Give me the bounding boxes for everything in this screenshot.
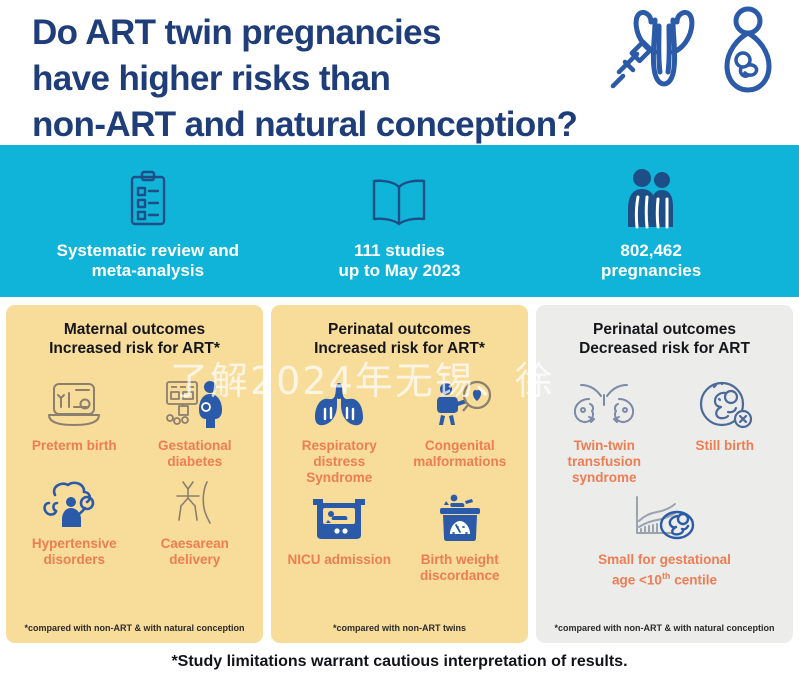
page-title: Do ART twin pregnancies have higher risk… bbox=[32, 6, 632, 148]
outcome-line: Preterm birth bbox=[32, 438, 117, 454]
glucose-monitor-pregnant-woman-icon bbox=[163, 376, 227, 432]
card-title-perinatal-decreased: Perinatal outcomes Decreased risk for AR… bbox=[544, 321, 785, 358]
page-title-line-1: Do ART twin pregnancies bbox=[32, 10, 632, 56]
outcome-line: Hypertensive bbox=[32, 536, 117, 552]
outcome-label-small-for-gestational-age: Small for gestational age <10th centile bbox=[596, 552, 733, 589]
outcome-label-respiratory-distress: Respiratory distress Syndrome bbox=[279, 438, 400, 486]
outcome-label-preterm-birth: Preterm birth bbox=[30, 438, 119, 454]
stat-line: 802,462 bbox=[601, 241, 701, 261]
fetus-cross-icon bbox=[696, 376, 754, 432]
card-body-perinatal-increased: Respiratory distress Syndrome bbox=[279, 362, 520, 623]
outcome-line: Respiratory distress bbox=[281, 438, 398, 470]
outcome-line: Congenital bbox=[413, 438, 506, 454]
card-note-perinatal-decreased: *compared with non-ART & with natural co… bbox=[544, 623, 785, 637]
footer-disclaimer: *Study limitations warrant cautious inte… bbox=[171, 653, 627, 671]
stats-band: Systematic review and meta-analysis 111 … bbox=[0, 145, 799, 297]
page-title-line-2: have higher risks than bbox=[32, 56, 632, 102]
outcome-respiratory-distress: Respiratory distress Syndrome bbox=[279, 376, 400, 486]
outcome-label-still-birth: Still birth bbox=[694, 438, 757, 454]
stat-item-studies: 111 studies up to May 2023 bbox=[275, 161, 524, 281]
card-note-maternal-increased: *compared with non-ART & with natural co… bbox=[14, 623, 255, 637]
outcome-line: Twin-twin bbox=[567, 438, 641, 454]
outcome-caesarean-delivery: Caesarean delivery bbox=[135, 474, 256, 568]
outcome-label-twin-twin-transfusion: Twin-twin transfusion syndrome bbox=[565, 438, 643, 486]
header-icon-group bbox=[607, 4, 777, 96]
card-title-line: Perinatal outcomes bbox=[279, 321, 520, 340]
stat-line: meta-analysis bbox=[57, 261, 239, 281]
outcome-line: Caesarean bbox=[161, 536, 229, 552]
outcome-line: Still birth bbox=[696, 438, 755, 454]
card-title-line: Increased risk for ART* bbox=[279, 340, 520, 359]
uterus-syringe-icon bbox=[607, 6, 707, 103]
stat-item-pregnancies: 802,462 pregnancies bbox=[527, 161, 776, 281]
card-title-perinatal-increased: Perinatal outcomes Increased risk for AR… bbox=[279, 321, 520, 358]
outcome-small-for-gestational-age: Small for gestational age <10th centile bbox=[544, 490, 785, 589]
card-maternal-increased: Maternal outcomes Increased risk for ART… bbox=[6, 305, 263, 643]
caesarean-scar-icon bbox=[169, 474, 221, 530]
outcome-hypertensive-disorders: Hypertensive disorders bbox=[14, 474, 135, 568]
twin-fetuses-placenta-icon bbox=[569, 376, 639, 432]
header: Do ART twin pregnancies have higher risk… bbox=[0, 0, 799, 145]
outcome-still-birth: Still birth bbox=[665, 376, 786, 486]
card-body-perinatal-decreased: Twin-twin transfusion syndrome bbox=[544, 362, 785, 623]
outcome-label-birth-weight-discordance: Birth weight discordance bbox=[418, 552, 502, 584]
outcome-nicu-admission: NICU admission bbox=[279, 490, 400, 584]
growth-chart-fetus-icon bbox=[627, 490, 703, 546]
stat-label-pregnancies: 802,462 pregnancies bbox=[601, 241, 701, 281]
stat-label-systematic-review: Systematic review and meta-analysis bbox=[57, 241, 239, 281]
outcome-line: delivery bbox=[161, 552, 229, 568]
stat-line: Systematic review and bbox=[57, 241, 239, 261]
pregnant-woman-fetus-icon bbox=[719, 6, 777, 103]
blood-pressure-pregnant-woman-icon bbox=[41, 474, 107, 530]
stat-line: 111 studies bbox=[339, 241, 461, 261]
open-book-icon bbox=[368, 167, 430, 229]
stat-line: pregnancies bbox=[601, 261, 701, 281]
outcome-label-nicu-admission: NICU admission bbox=[285, 552, 393, 568]
stat-item-systematic-review: Systematic review and meta-analysis bbox=[23, 161, 272, 281]
outcome-line-tail: centile bbox=[670, 573, 717, 588]
outcome-line: age <10th centile bbox=[598, 568, 731, 589]
outcome-line: NICU admission bbox=[287, 552, 391, 568]
infographic-page: Do ART twin pregnancies have higher risk… bbox=[0, 0, 799, 684]
baby-heart-magnifier-icon bbox=[428, 376, 492, 432]
outcome-line: diabetes bbox=[158, 454, 232, 470]
incubator-monitor-icon bbox=[45, 376, 103, 432]
outcome-line: syndrome bbox=[567, 470, 641, 486]
outcome-line: Syndrome bbox=[281, 470, 398, 486]
outcome-cards: Maternal outcomes Increased risk for ART… bbox=[0, 297, 799, 643]
card-perinatal-increased: Perinatal outcomes Increased risk for AR… bbox=[271, 305, 528, 643]
clipboard-checklist-icon bbox=[124, 167, 172, 229]
outcome-label-hypertensive-disorders: Hypertensive disorders bbox=[30, 536, 119, 568]
nicu-incubator-icon bbox=[311, 490, 367, 546]
card-body-maternal-increased: Preterm birth bbox=[14, 362, 255, 623]
card-title-line: Perinatal outcomes bbox=[544, 321, 785, 340]
card-title-maternal-increased: Maternal outcomes Increased risk for ART… bbox=[14, 321, 255, 358]
outcome-line: Small for gestational bbox=[598, 552, 731, 568]
outcome-line: transfusion bbox=[567, 454, 641, 470]
two-people-icon bbox=[624, 167, 678, 229]
outcome-preterm-birth: Preterm birth bbox=[14, 376, 135, 470]
outcome-twin-twin-transfusion: Twin-twin transfusion syndrome bbox=[544, 376, 665, 486]
outcome-label-congenital-malformations: Congenital malformations bbox=[411, 438, 508, 470]
outcome-birth-weight-discordance: Birth weight discordance bbox=[400, 490, 521, 584]
stat-line: up to May 2023 bbox=[339, 261, 461, 281]
card-title-line: Increased risk for ART* bbox=[14, 340, 255, 359]
outcome-line: Birth weight bbox=[420, 552, 500, 568]
lungs-icon bbox=[310, 376, 368, 432]
baby-weighing-scale-icon bbox=[432, 490, 488, 546]
outcome-congenital-malformations: Congenital malformations bbox=[400, 376, 521, 486]
footer: *Study limitations warrant cautious inte… bbox=[0, 643, 799, 681]
outcome-line: disorders bbox=[32, 552, 117, 568]
stat-label-studies: 111 studies up to May 2023 bbox=[339, 241, 461, 281]
outcome-line-text: age <10 bbox=[612, 573, 662, 588]
outcome-label-caesarean-delivery: Caesarean delivery bbox=[159, 536, 231, 568]
card-perinatal-decreased: Perinatal outcomes Decreased risk for AR… bbox=[536, 305, 793, 643]
outcome-line: discordance bbox=[420, 568, 500, 584]
outcome-gestational-diabetes: Gestational diabetes bbox=[135, 376, 256, 470]
page-title-line-3: non-ART and natural conception? bbox=[32, 102, 632, 148]
outcome-line: Gestational bbox=[158, 438, 232, 454]
outcome-label-gestational-diabetes: Gestational diabetes bbox=[156, 438, 234, 470]
card-note-perinatal-increased: *compared with non-ART twins bbox=[279, 623, 520, 637]
card-title-line: Maternal outcomes bbox=[14, 321, 255, 340]
card-title-line: Decreased risk for ART bbox=[544, 340, 785, 359]
outcome-line: malformations bbox=[413, 454, 506, 470]
